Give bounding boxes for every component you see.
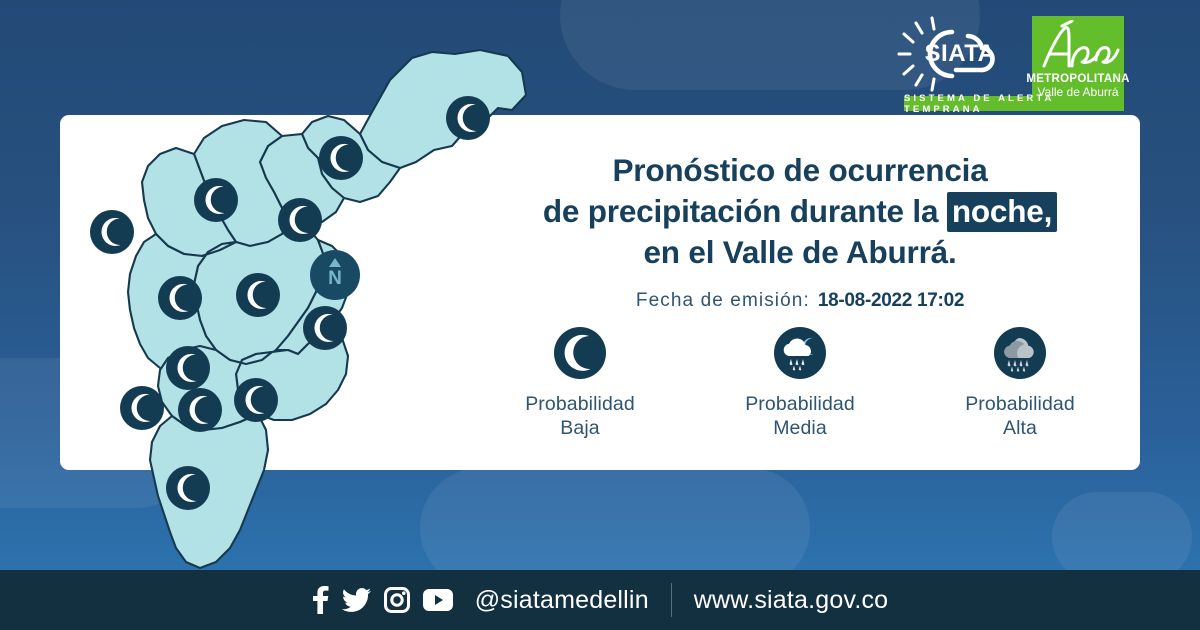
footer: @siatamedellin www.siata.gov.co <box>0 570 1200 630</box>
siata-wordmark: SIATA <box>925 40 996 67</box>
cloud-heavy-rain-icon <box>992 325 1048 381</box>
legend-label-media: Probabilidad Media <box>745 392 855 441</box>
background-cloud-right <box>1052 492 1192 582</box>
probability-legend: Probabilidad Baja Probabilidad Media <box>470 325 1130 441</box>
area-metropolitana-text: METROPOLITANA <box>1026 74 1129 86</box>
moon-icon <box>552 325 608 381</box>
title-line-3: en el Valle de Aburrá. <box>643 234 956 270</box>
title-line-2: de precipitación durante la <box>543 193 938 229</box>
facebook-icon[interactable] <box>312 586 329 614</box>
instagram-icon[interactable] <box>384 587 410 613</box>
forecast-info: Pronóstico de ocurrencia de precipitació… <box>470 150 1130 312</box>
legend-item-media[interactable]: Probabilidad Media <box>705 325 895 441</box>
emission-date: Fecha de emisión: 18-08-2022 17:02 <box>470 290 1130 312</box>
emission-date-label: Fecha de emisión: <box>636 290 810 312</box>
page-title: Pronóstico de ocurrencia de precipitació… <box>470 150 1130 273</box>
twitter-icon[interactable] <box>342 588 371 612</box>
legend-label-baja: Probabilidad Baja <box>525 392 635 441</box>
emission-date-value: 18-08-2022 17:02 <box>818 290 964 312</box>
area-script-glyph <box>1036 20 1120 74</box>
social-icons <box>312 586 453 614</box>
title-highlight-noche: noche, <box>947 192 1057 232</box>
youtube-icon[interactable] <box>423 589 453 611</box>
cloud-moon-rain-icon <box>772 325 828 381</box>
siata-logo: SIATA <box>896 16 1024 94</box>
website-url[interactable]: www.siata.gov.co <box>694 586 888 615</box>
legend-label-alta: Probabilidad Alta <box>965 392 1075 441</box>
siata-tagline: SISTEMA DE ALERTA TEMPRANA <box>904 96 1124 111</box>
footer-divider <box>671 583 672 617</box>
legend-item-alta[interactable]: Probabilidad Alta <box>925 325 1115 441</box>
legend-item-baja[interactable]: Probabilidad Baja <box>485 325 675 441</box>
social-handle[interactable]: @siatamedellin <box>475 586 649 615</box>
title-line-1: Pronóstico de ocurrencia <box>612 152 987 188</box>
